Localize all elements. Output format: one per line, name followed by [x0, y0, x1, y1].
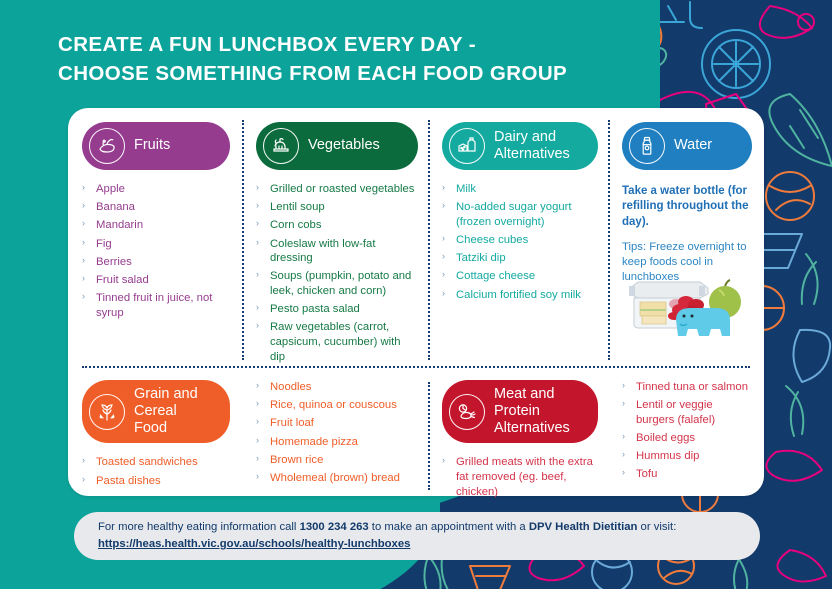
- group-meat: Meat and Protein Alternatives ›Grilled m…: [430, 370, 610, 496]
- chevron-right-icon: ›: [82, 474, 85, 486]
- item-label: Raw vegetables (carrot, capsicum, cucumb…: [270, 321, 401, 362]
- list-item: ›No-added sugar yogurt (frozen overnight…: [442, 200, 598, 229]
- group-meat-items-column: ›Tinned tuna or salmon ›Lentil or veggie…: [610, 370, 764, 496]
- dairy-icon: [449, 128, 485, 164]
- group-label: Fruits: [134, 137, 170, 154]
- list-item: ›Rice, quinoa or couscous: [256, 398, 418, 413]
- footer-text-after: or visit:: [637, 521, 676, 533]
- list-item: ›Brown rice: [256, 453, 418, 468]
- chevron-right-icon: ›: [442, 251, 445, 263]
- item-label: Tinned fruit in juice, not syrup: [96, 292, 212, 319]
- chevron-right-icon: ›: [82, 200, 85, 212]
- chevron-right-icon: ›: [622, 380, 625, 392]
- group-fruits: Fruits ›Apple ›Banana ›Mandarin ›Fig ›Be…: [68, 108, 244, 366]
- list-item: ›Apple: [82, 182, 230, 197]
- item-label: Grilled meats with the extra fat removed…: [456, 456, 593, 497]
- item-label: Fig: [96, 238, 112, 250]
- chevron-right-icon: ›: [256, 182, 259, 194]
- chevron-right-icon: ›: [82, 273, 85, 285]
- top-row: Fruits ›Apple ›Banana ›Mandarin ›Fig ›Be…: [68, 108, 764, 366]
- chevron-right-icon: ›: [256, 237, 259, 249]
- group-label: Water: [674, 137, 712, 154]
- list-item: ›Pesto pasta salad: [256, 302, 418, 317]
- item-label: Milk: [456, 183, 476, 195]
- group-items-dairy: ›Milk ›No-added sugar yogurt (frozen ove…: [442, 182, 598, 302]
- item-label: Pesto pasta salad: [270, 303, 360, 315]
- list-item: ›Raw vegetables (carrot, capsicum, cucum…: [256, 320, 418, 364]
- group-label: Meat and Protein Alternatives: [494, 386, 580, 437]
- list-item: ›Fruit salad: [82, 273, 230, 288]
- chevron-right-icon: ›: [256, 453, 259, 465]
- water-bottle-icon: [629, 128, 665, 164]
- chevron-right-icon: ›: [256, 320, 259, 332]
- footer-text-before: For more healthy eating information call: [98, 521, 300, 533]
- chevron-right-icon: ›: [442, 200, 445, 212]
- footer-phone: 1300 234 263: [300, 521, 369, 533]
- item-label: Fruit loaf: [270, 417, 314, 429]
- item-label: Corn cobs: [270, 219, 322, 231]
- item-label: Soups (pumpkin, potato and leek, chicken…: [270, 270, 411, 297]
- row-divider: [82, 366, 750, 368]
- item-label: Tinned tuna or salmon: [636, 381, 748, 393]
- chevron-right-icon: ›: [256, 218, 259, 230]
- item-label: Rice, quinoa or couscous: [270, 399, 397, 411]
- group-header-vegetables[interactable]: Vegetables: [256, 122, 418, 170]
- chevron-right-icon: ›: [82, 218, 85, 230]
- footer-text: For more healthy eating information call…: [74, 519, 700, 554]
- chevron-right-icon: ›: [82, 255, 85, 267]
- item-label: Noodles: [270, 381, 311, 393]
- list-item: ›Tinned tuna or salmon: [622, 380, 752, 395]
- item-label: Cheese cubes: [456, 234, 528, 246]
- food-groups-card: Fruits ›Apple ›Banana ›Mandarin ›Fig ›Be…: [68, 108, 764, 496]
- group-items-grain-left: ›Toasted sandwiches ›Pasta dishes: [82, 455, 230, 488]
- chevron-right-icon: ›: [256, 471, 259, 483]
- group-header-fruits[interactable]: Fruits: [82, 122, 230, 170]
- group-items-meat-left: ›Grilled meats with the extra fat remove…: [442, 455, 598, 499]
- list-item: ›Homemade pizza: [256, 435, 418, 450]
- item-label: Wholemeal (brown) bread: [270, 472, 400, 484]
- list-item: ›Calcium fortified soy milk: [442, 288, 598, 303]
- chevron-right-icon: ›: [442, 288, 445, 300]
- group-items-vegetables: ›Grilled or roasted vegetables ›Lentil s…: [256, 182, 418, 364]
- chevron-right-icon: ›: [256, 302, 259, 314]
- group-label: Dairy and Alternatives: [494, 129, 580, 163]
- chevron-right-icon: ›: [256, 269, 259, 281]
- item-label: Apple: [96, 183, 125, 195]
- item-label: Banana: [96, 201, 135, 213]
- list-item: ›Cottage cheese: [442, 269, 598, 284]
- item-label: Brown rice: [270, 454, 323, 466]
- lunchbox-photo: [624, 258, 774, 344]
- meat-icon: [449, 394, 485, 430]
- group-header-meat[interactable]: Meat and Protein Alternatives: [442, 380, 598, 443]
- list-item: ›Cheese cubes: [442, 233, 598, 248]
- list-item: ›Fruit loaf: [256, 416, 418, 431]
- list-item: ›Lentil soup: [256, 200, 418, 215]
- list-item: ›Tofu: [622, 467, 752, 482]
- group-water: Water Take a water bottle (for refilling…: [610, 108, 764, 366]
- group-header-grain[interactable]: Grain and Cereal Food: [82, 380, 230, 443]
- footer-text-mid: to make an appointment with a: [369, 521, 529, 533]
- chevron-right-icon: ›: [82, 182, 85, 194]
- item-label: Toasted sandwiches: [96, 456, 198, 468]
- chevron-right-icon: ›: [256, 380, 259, 392]
- chevron-right-icon: ›: [622, 431, 625, 443]
- list-item: ›Tinned fruit in juice, not syrup: [82, 291, 230, 320]
- group-dairy: Dairy and Alternatives ›Milk ›No-added s…: [430, 108, 610, 366]
- list-item: ›Mandarin: [82, 218, 230, 233]
- water-highlight-text: Take a water bottle (for refilling throu…: [622, 184, 752, 230]
- item-label: Calcium fortified soy milk: [456, 289, 581, 301]
- list-item: ›Pasta dishes: [82, 474, 230, 489]
- item-label: No-added sugar yogurt (frozen overnight): [456, 201, 572, 228]
- footer-url-link[interactable]: https://heas.health.vic.gov.au/schools/h…: [98, 538, 410, 550]
- infographic-poster: CREATE A FUN LUNCHBOX EVERY DAY - CHOOSE…: [0, 0, 832, 589]
- item-label: Tatziki dip: [456, 252, 506, 264]
- vegetables-icon: [263, 128, 299, 164]
- item-label: Boiled eggs: [636, 432, 695, 444]
- list-item: ›Banana: [82, 200, 230, 215]
- page-title: CREATE A FUN LUNCHBOX EVERY DAY - CHOOSE…: [58, 30, 698, 88]
- group-header-dairy[interactable]: Dairy and Alternatives: [442, 122, 598, 170]
- chevron-right-icon: ›: [82, 291, 85, 303]
- group-items-fruits: ›Apple ›Banana ›Mandarin ›Fig ›Berries ›…: [82, 182, 230, 320]
- chevron-right-icon: ›: [82, 455, 85, 467]
- list-item: ›Coleslaw with low-fat dressing: [256, 237, 418, 266]
- list-item: ›Toasted sandwiches: [82, 455, 230, 470]
- chevron-right-icon: ›: [442, 182, 445, 194]
- chevron-right-icon: ›: [256, 416, 259, 428]
- chevron-right-icon: ›: [622, 467, 625, 479]
- list-item: ›Hummus dip: [622, 449, 752, 464]
- chevron-right-icon: ›: [82, 237, 85, 249]
- chevron-right-icon: ›: [622, 449, 625, 461]
- chevron-right-icon: ›: [442, 455, 445, 467]
- list-item: ›Soups (pumpkin, potato and leek, chicke…: [256, 269, 418, 298]
- item-label: Grilled or roasted vegetables: [270, 183, 414, 195]
- list-item: ›Wholemeal (brown) bread: [256, 471, 418, 486]
- list-item: ›Lentil or veggie burgers (falafel): [622, 398, 752, 427]
- chevron-right-icon: ›: [256, 398, 259, 410]
- page-title-line-2: CHOOSE SOMETHING FROM EACH FOOD GROUP: [58, 59, 698, 88]
- group-items-meat-right: ›Tinned tuna or salmon ›Lentil or veggie…: [622, 380, 752, 482]
- list-item: ›Grilled or roasted vegetables: [256, 182, 418, 197]
- list-item: ›Berries: [82, 255, 230, 270]
- group-label: Grain and Cereal Food: [134, 386, 212, 437]
- item-label: Lentil soup: [270, 201, 325, 213]
- list-item: ›Grilled meats with the extra fat remove…: [442, 455, 598, 499]
- group-vegetables: Vegetables ›Grilled or roasted vegetable…: [244, 108, 430, 366]
- item-label: Berries: [96, 256, 132, 268]
- list-item: ›Boiled eggs: [622, 431, 752, 446]
- footer-organisation: DPV Health Dietitian: [529, 521, 638, 533]
- bottom-row: Grain and Cereal Food ›Toasted sandwiche…: [68, 370, 764, 496]
- item-label: Fruit salad: [96, 274, 149, 286]
- group-items-grain-right: ›Noodles ›Rice, quinoa or couscous ›Frui…: [256, 380, 418, 486]
- item-label: Hummus dip: [636, 450, 699, 462]
- item-label: Homemade pizza: [270, 436, 358, 448]
- page-title-line-1: CREATE A FUN LUNCHBOX EVERY DAY -: [58, 33, 476, 56]
- group-grain-items-column: ›Noodles ›Rice, quinoa or couscous ›Frui…: [244, 370, 430, 496]
- list-item: ›Corn cobs: [256, 218, 418, 233]
- item-label: Cottage cheese: [456, 270, 535, 282]
- fruits-icon: [89, 128, 125, 164]
- item-label: Pasta dishes: [96, 475, 161, 487]
- list-item: ›Noodles: [256, 380, 418, 395]
- chevron-right-icon: ›: [442, 269, 445, 281]
- footer-contact-bar: For more healthy eating information call…: [74, 512, 760, 560]
- chevron-right-icon: ›: [442, 233, 445, 245]
- chevron-right-icon: ›: [256, 435, 259, 447]
- item-label: Lentil or veggie burgers (falafel): [636, 399, 715, 426]
- item-label: Tofu: [636, 468, 657, 480]
- group-header-water[interactable]: Water: [622, 122, 752, 170]
- wheat-icon: [89, 394, 125, 430]
- list-item: ›Milk: [442, 182, 598, 197]
- item-label: Coleslaw with low-fat dressing: [270, 238, 375, 265]
- group-grain: Grain and Cereal Food ›Toasted sandwiche…: [68, 370, 244, 496]
- list-item: ›Fig: [82, 237, 230, 252]
- chevron-right-icon: ›: [256, 200, 259, 212]
- list-item: ›Tatziki dip: [442, 251, 598, 266]
- group-label: Vegetables: [308, 137, 380, 154]
- item-label: Mandarin: [96, 219, 143, 231]
- chevron-right-icon: ›: [622, 398, 625, 410]
